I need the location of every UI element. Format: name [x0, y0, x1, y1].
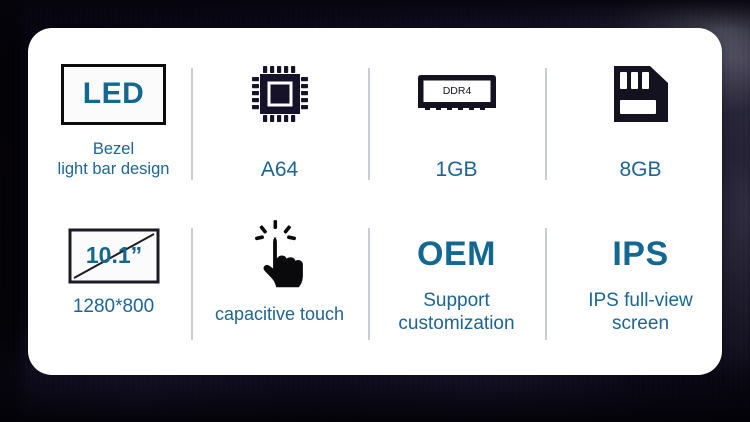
- divider-row1-3: [545, 68, 547, 180]
- storage-visual: [612, 58, 670, 130]
- cpu-caption: A64: [261, 159, 298, 180]
- spec-item-resolution[interactable]: 10.1” 1280*800: [36, 225, 191, 317]
- display-screen-icon-text: 10.1”: [85, 242, 141, 268]
- oem-caption: Support customization: [398, 289, 514, 335]
- spec-item-storage[interactable]: 8GB: [567, 58, 714, 180]
- divider-row1-2: [368, 68, 370, 180]
- resolution-visual: 10.1”: [66, 225, 162, 287]
- storage-caption: 8GB: [619, 159, 661, 180]
- cpu-chip-icon: [248, 62, 312, 126]
- touch-caption: capacitive touch: [215, 304, 344, 324]
- spec-item-ram[interactable]: DDR4 1GB: [390, 58, 523, 180]
- spec-item-oem[interactable]: OEM Support customization: [390, 225, 523, 335]
- oem-label: OEM: [417, 237, 496, 271]
- led-caption: Bezel light bar design: [58, 139, 170, 179]
- ram-visual: DDR4: [414, 58, 500, 130]
- oem-visual: OEM: [417, 225, 496, 283]
- divider-row1-1: [191, 68, 193, 180]
- sd-card-icon: [612, 62, 670, 126]
- touch-visual: [247, 218, 313, 290]
- ram-module-icon-text: DDR4: [442, 85, 471, 97]
- spec-item-cpu[interactable]: A64: [213, 58, 346, 180]
- divider-row2-1: [191, 228, 193, 340]
- ips-visual: IPS: [612, 225, 668, 283]
- ram-caption: 1GB: [435, 159, 477, 180]
- spec-item-ips[interactable]: IPS IPS full-view screen: [567, 225, 714, 335]
- touch-hand-tap-icon: [247, 219, 313, 289]
- led-visual: LED: [61, 58, 166, 130]
- divider-row2-3: [545, 228, 547, 340]
- ips-label: IPS: [612, 237, 668, 271]
- cpu-visual: [248, 58, 312, 130]
- spec-card: LED Bezel light bar design: [28, 28, 722, 375]
- led-label: LED: [83, 79, 145, 109]
- led-bezel-box-icon: LED: [61, 64, 166, 125]
- spec-grid: LED Bezel light bar design: [28, 28, 722, 375]
- display-screen-icon: 10.1”: [66, 226, 162, 286]
- ram-module-icon: DDR4: [414, 72, 500, 116]
- resolution-caption: 1280*800: [73, 297, 154, 317]
- spec-item-touch[interactable]: capacitive touch: [213, 218, 346, 324]
- ips-caption: IPS full-view screen: [588, 289, 693, 335]
- divider-row2-2: [368, 228, 370, 340]
- spec-item-led[interactable]: LED Bezel light bar design: [36, 58, 191, 179]
